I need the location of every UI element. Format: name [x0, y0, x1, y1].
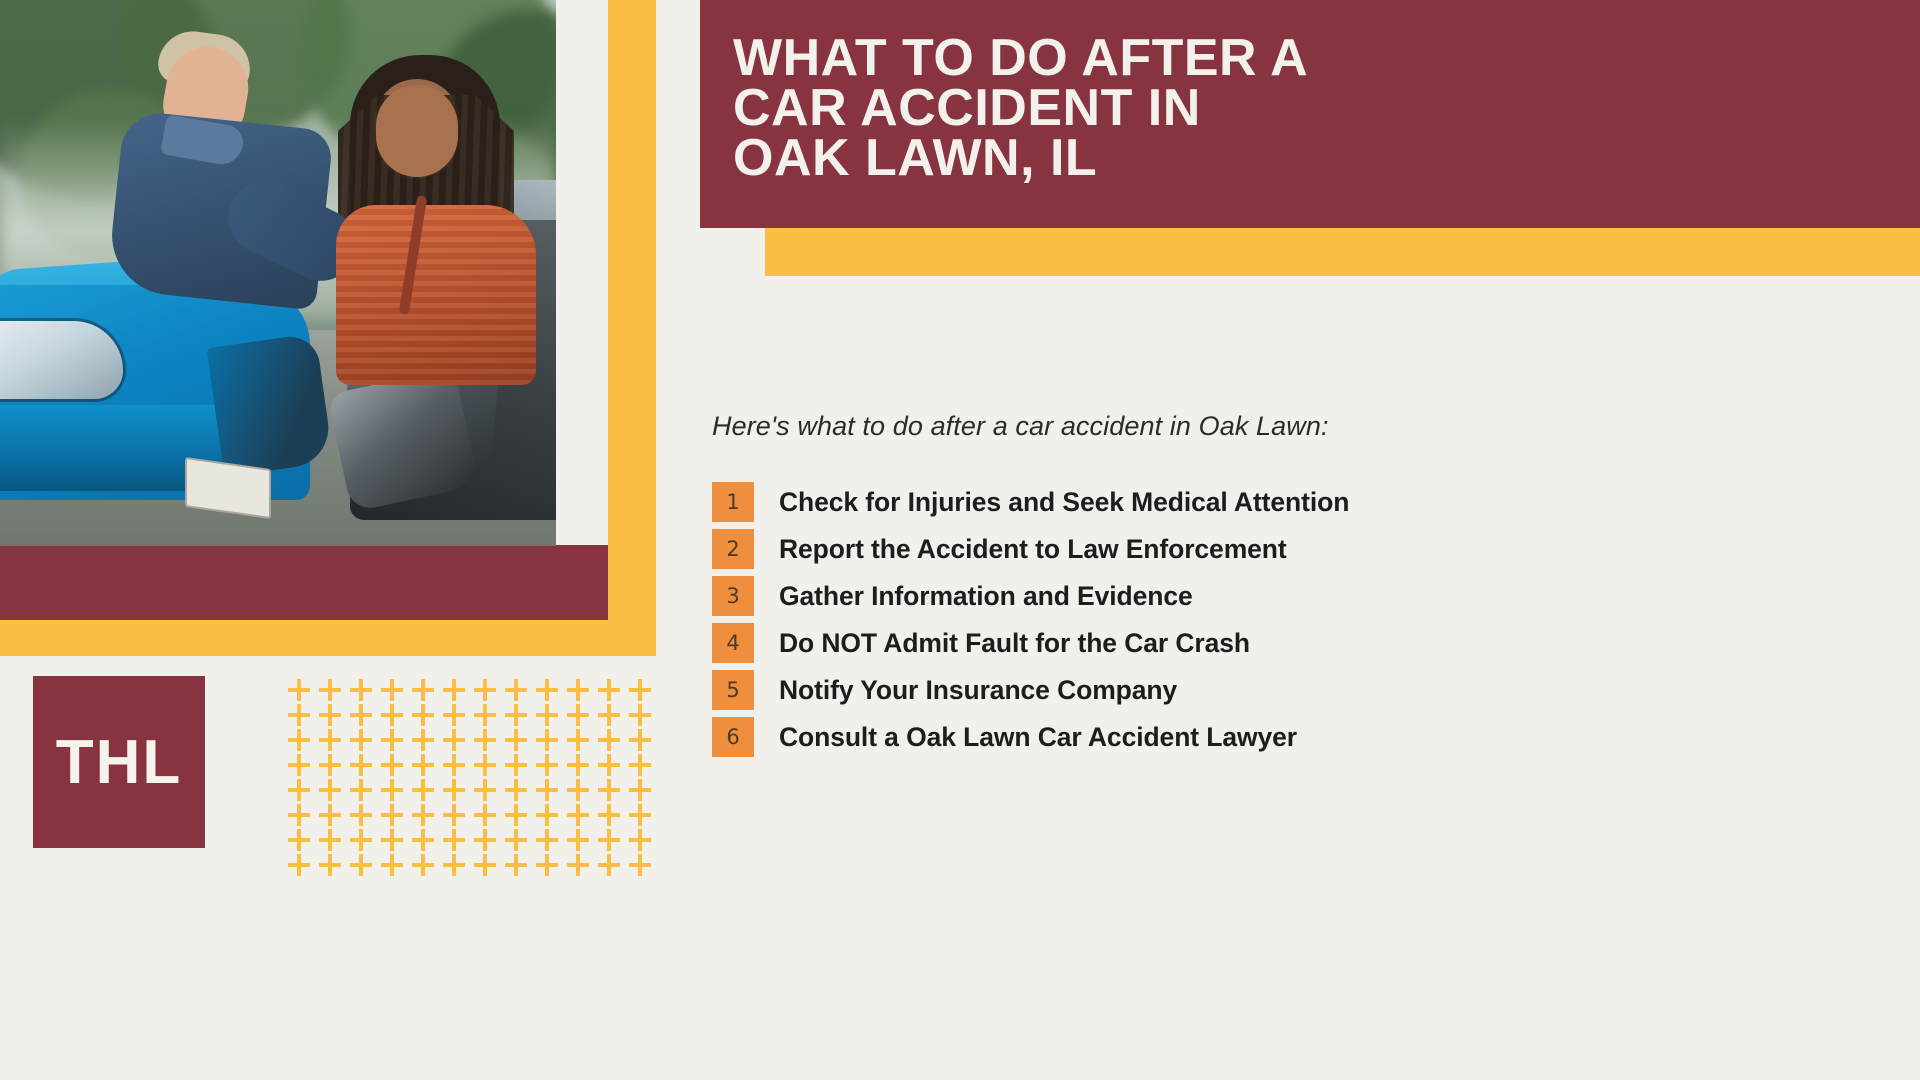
- plus-mark-icon: [474, 778, 505, 803]
- plus-mark-icon: [505, 803, 536, 828]
- plus-mark-icon: [350, 803, 381, 828]
- step-row: 5Notify Your Insurance Company: [712, 670, 1862, 710]
- plus-mark-icon: [381, 853, 412, 878]
- thl-logo: THL: [33, 676, 205, 848]
- plus-mark-icon: [319, 753, 350, 778]
- plus-mark-icon: [505, 853, 536, 878]
- car-accident-photo: [0, 0, 556, 546]
- left-column: THL: [0, 0, 700, 1080]
- plus-mark-icon: [505, 828, 536, 853]
- plus-mark-icon: [319, 703, 350, 728]
- plus-mark-icon: [288, 678, 319, 703]
- plus-mark-icon: [536, 728, 567, 753]
- plus-mark-icon: [598, 828, 629, 853]
- plus-mark-icon: [412, 678, 443, 703]
- step-label: Check for Injuries and Seek Medical Atte…: [779, 487, 1349, 518]
- plus-mark-icon: [629, 803, 660, 828]
- plus-mark-icon: [288, 753, 319, 778]
- plus-mark-icon: [381, 778, 412, 803]
- plus-mark-icon: [629, 828, 660, 853]
- plus-mark-icon: [629, 703, 660, 728]
- step-number-badge: 3: [712, 576, 754, 616]
- plus-mark-icon: [443, 728, 474, 753]
- plus-mark-icon: [350, 778, 381, 803]
- plus-mark-icon: [319, 778, 350, 803]
- plus-mark-icon: [474, 803, 505, 828]
- plus-mark-icon: [412, 753, 443, 778]
- thl-logo-text: THL: [56, 727, 183, 798]
- plus-mark-icon: [629, 753, 660, 778]
- plus-mark-icon: [629, 778, 660, 803]
- plus-mark-icon: [381, 803, 412, 828]
- plus-mark-icon: [443, 703, 474, 728]
- step-number-badge: 1: [712, 482, 754, 522]
- plus-mark-icon: [319, 828, 350, 853]
- plus-mark-icon: [629, 678, 660, 703]
- plus-mark-icon: [474, 753, 505, 778]
- plus-mark-icon: [288, 728, 319, 753]
- plus-mark-icon: [598, 753, 629, 778]
- plus-mark-icon: [567, 803, 598, 828]
- plus-mark-icon: [412, 703, 443, 728]
- yellow-accent-band: [0, 620, 656, 656]
- plus-mark-icon: [567, 678, 598, 703]
- blue-car-license-plate: [185, 457, 271, 519]
- plus-mark-icon: [474, 703, 505, 728]
- plus-mark-icon: [443, 678, 474, 703]
- plus-mark-icon: [288, 828, 319, 853]
- plus-mark-icon: [443, 853, 474, 878]
- woman-face: [376, 85, 458, 177]
- plus-mark-icon: [536, 828, 567, 853]
- plus-mark-icon: [505, 753, 536, 778]
- plus-mark-icon: [381, 728, 412, 753]
- plus-mark-icon: [629, 853, 660, 878]
- plus-mark-icon: [412, 828, 443, 853]
- step-label: Gather Information and Evidence: [779, 581, 1193, 612]
- plus-mark-icon: [319, 728, 350, 753]
- step-label: Do NOT Admit Fault for the Car Crash: [779, 628, 1250, 659]
- header-block: WHAT TO DO AFTER A CAR ACCIDENT IN OAK L…: [700, 0, 1920, 228]
- step-row: 2Report the Accident to Law Enforcement: [712, 529, 1862, 569]
- plus-mark-icon: [288, 703, 319, 728]
- step-label: Consult a Oak Lawn Car Accident Lawyer: [779, 722, 1297, 753]
- plus-mark-icon: [536, 778, 567, 803]
- step-row: 3Gather Information and Evidence: [712, 576, 1862, 616]
- plus-mark-icon: [319, 803, 350, 828]
- plus-mark-icon: [319, 678, 350, 703]
- plus-mark-icon: [443, 753, 474, 778]
- step-label: Report the Accident to Law Enforcement: [779, 534, 1287, 565]
- plus-mark-icon: [319, 853, 350, 878]
- step-row: 1Check for Injuries and Seek Medical Att…: [712, 482, 1862, 522]
- plus-mark-icon: [350, 753, 381, 778]
- plus-mark-icon: [536, 803, 567, 828]
- plus-mark-icon: [350, 678, 381, 703]
- plus-mark-icon: [505, 678, 536, 703]
- plus-mark-icon: [567, 778, 598, 803]
- plus-mark-icon: [288, 803, 319, 828]
- step-label: Notify Your Insurance Company: [779, 675, 1177, 706]
- plus-mark-icon: [412, 803, 443, 828]
- plus-mark-icon: [474, 853, 505, 878]
- plus-mark-icon: [381, 703, 412, 728]
- plus-mark-icon: [474, 728, 505, 753]
- plus-mark-icon: [474, 678, 505, 703]
- plus-mark-icon: [412, 853, 443, 878]
- plus-mark-icon: [505, 728, 536, 753]
- step-row: 6Consult a Oak Lawn Car Accident Lawyer: [712, 717, 1862, 757]
- sweater-knit-texture: [336, 205, 536, 385]
- plus-mark-icon: [567, 703, 598, 728]
- intro-text: Here's what to do after a car accident i…: [712, 411, 1812, 442]
- plus-mark-icon: [381, 678, 412, 703]
- plus-mark-icon: [443, 778, 474, 803]
- plus-mark-icon: [288, 853, 319, 878]
- step-number-badge: 6: [712, 717, 754, 757]
- plus-pattern-decoration: [288, 678, 660, 878]
- plus-mark-icon: [567, 853, 598, 878]
- step-number-badge: 2: [712, 529, 754, 569]
- plus-mark-icon: [412, 728, 443, 753]
- plus-mark-icon: [350, 853, 381, 878]
- plus-mark-icon: [350, 703, 381, 728]
- plus-mark-icon: [381, 753, 412, 778]
- plus-mark-icon: [598, 728, 629, 753]
- plus-mark-icon: [536, 753, 567, 778]
- plus-mark-icon: [536, 853, 567, 878]
- plus-mark-icon: [443, 828, 474, 853]
- plus-mark-icon: [598, 803, 629, 828]
- man-person: [105, 25, 375, 395]
- yellow-frame-bar: [608, 0, 656, 620]
- plus-mark-icon: [443, 803, 474, 828]
- maroon-accent-band: [0, 545, 608, 623]
- plus-mark-icon: [567, 728, 598, 753]
- plus-mark-icon: [598, 703, 629, 728]
- header-yellow-accent-bar: [765, 228, 1920, 276]
- step-number-badge: 5: [712, 670, 754, 710]
- step-row: 4Do NOT Admit Fault for the Car Crash: [712, 623, 1862, 663]
- plus-mark-icon: [381, 828, 412, 853]
- plus-mark-icon: [567, 753, 598, 778]
- plus-mark-icon: [505, 778, 536, 803]
- page-title: WHAT TO DO AFTER A CAR ACCIDENT IN OAK L…: [733, 33, 1833, 183]
- plus-mark-icon: [629, 728, 660, 753]
- plus-mark-icon: [598, 678, 629, 703]
- plus-mark-icon: [598, 853, 629, 878]
- plus-mark-icon: [505, 703, 536, 728]
- plus-mark-icon: [350, 728, 381, 753]
- steps-list: 1Check for Injuries and Seek Medical Att…: [712, 482, 1862, 764]
- plus-mark-icon: [350, 828, 381, 853]
- plus-mark-icon: [567, 828, 598, 853]
- plus-mark-icon: [412, 778, 443, 803]
- plus-mark-icon: [598, 778, 629, 803]
- step-number-badge: 4: [712, 623, 754, 663]
- plus-mark-icon: [288, 778, 319, 803]
- plus-mark-icon: [536, 678, 567, 703]
- plus-mark-icon: [474, 828, 505, 853]
- plus-mark-icon: [536, 703, 567, 728]
